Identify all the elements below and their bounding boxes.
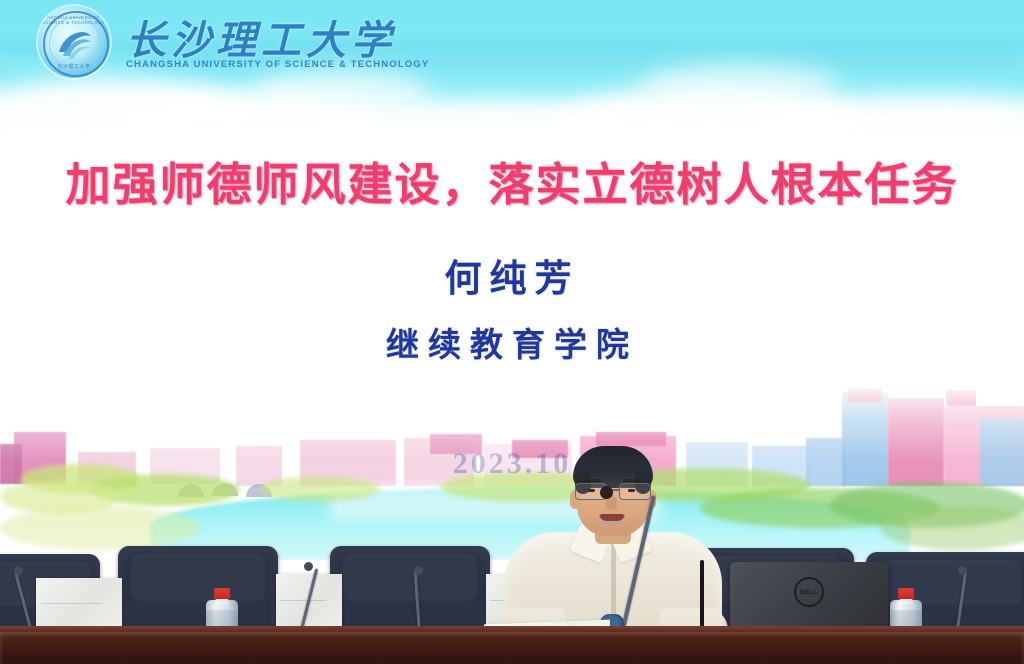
speaker-microphone-head-icon <box>600 486 613 499</box>
microphone-head-icon <box>304 562 313 571</box>
university-logo: CHANGSHA UNIVERSITY OF SCIENCE & TECHNOL… <box>38 2 368 82</box>
speaker-mouth <box>599 514 625 525</box>
slide-title: 加强师德师风建设，落实立德树人根本任务 <box>0 148 1024 213</box>
speaker-eye-left <box>588 489 595 492</box>
university-name-en: CHANGSHA UNIVERSITY OF SCIENCE & TECHNOL… <box>126 59 429 70</box>
microphone-head-icon <box>414 566 423 575</box>
microphone-head-icon <box>14 566 23 575</box>
screenshot-root: CHANGSHA UNIVERSITY OF SCIENCE & TECHNOL… <box>0 0 1024 664</box>
speaker-eyebrow-right <box>623 479 640 482</box>
slide-organization: 继续教育学院 <box>0 318 1024 366</box>
speaker-eyebrow-left <box>584 479 601 482</box>
cable <box>700 560 704 636</box>
university-name-cn: 长沙理工大学 <box>126 8 396 66</box>
slide-presenter: 何纯芳 <box>0 248 1024 302</box>
speaker-eye-right <box>628 489 635 492</box>
microphone-head-icon <box>958 566 967 575</box>
emblem-swirl-icon <box>55 22 95 64</box>
university-emblem-icon: CHANGSHA UNIVERSITY OF SCIENCE & TECHNOL… <box>38 6 110 78</box>
dell-logo-icon: DELL <box>794 577 824 607</box>
emblem-ring-text-cn: 长沙理工大学 <box>38 63 110 70</box>
desk-front <box>0 632 1024 664</box>
